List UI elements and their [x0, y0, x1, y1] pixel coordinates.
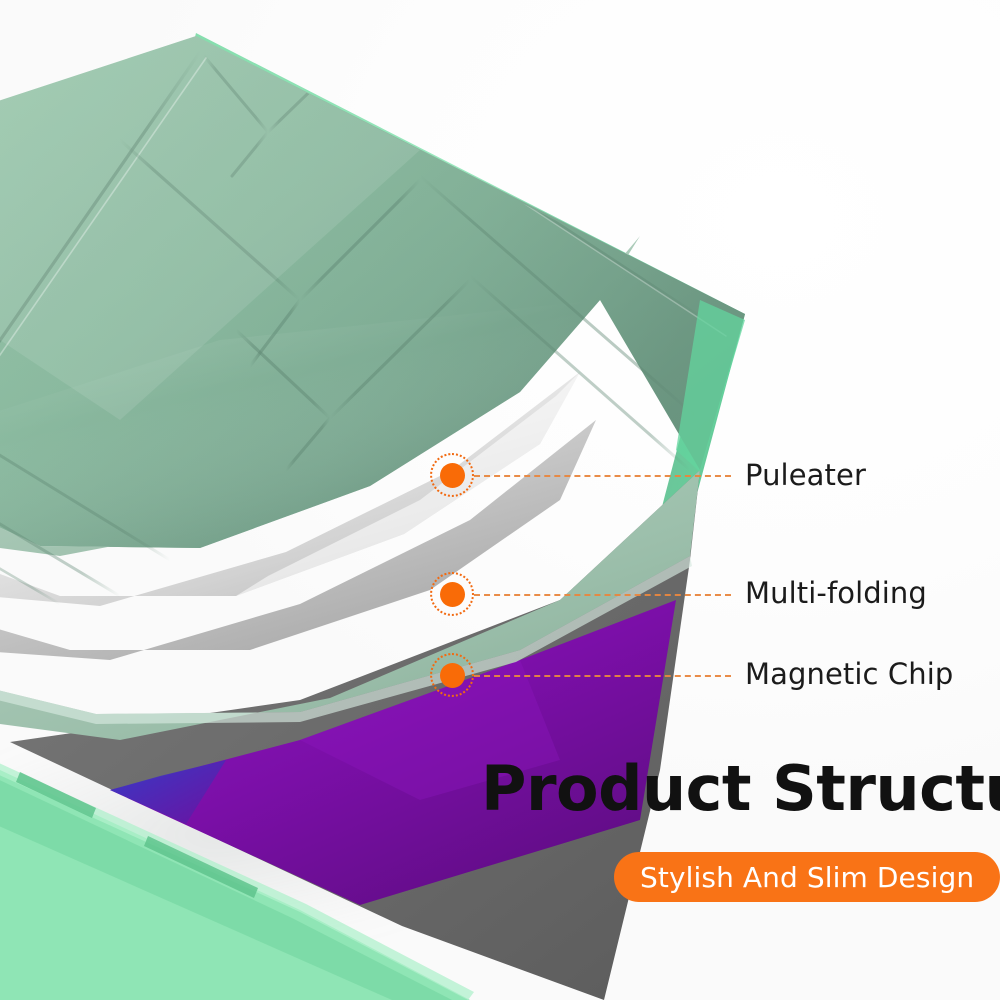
callout-marker-multi-folding[interactable] — [430, 572, 474, 616]
callout-label-puleater: Puleater — [745, 458, 866, 492]
callout-marker-puleater[interactable] — [430, 453, 474, 497]
page-title: Product Structure — [481, 752, 1000, 825]
callout-layer: Puleater Multi-folding Magnetic Chip — [0, 0, 1000, 1000]
product-infographic: Puleater Multi-folding Magnetic Chip Pro… — [0, 0, 1000, 1000]
callout-marker-magnetic-chip[interactable] — [430, 653, 474, 697]
marker-dot — [440, 582, 465, 607]
marker-dot — [440, 463, 465, 488]
tagline-text: Stylish And Slim Design — [640, 861, 974, 894]
callout-leader-line-multi-folding — [474, 594, 731, 596]
callout-label-magnetic-chip: Magnetic Chip — [745, 657, 953, 691]
callout-leader-line-magnetic-chip — [474, 675, 731, 677]
tagline-badge: Stylish And Slim Design — [614, 852, 1000, 902]
callout-leader-line-puleater — [474, 475, 731, 477]
marker-dot — [440, 663, 465, 688]
callout-label-multi-folding: Multi-folding — [745, 576, 927, 610]
